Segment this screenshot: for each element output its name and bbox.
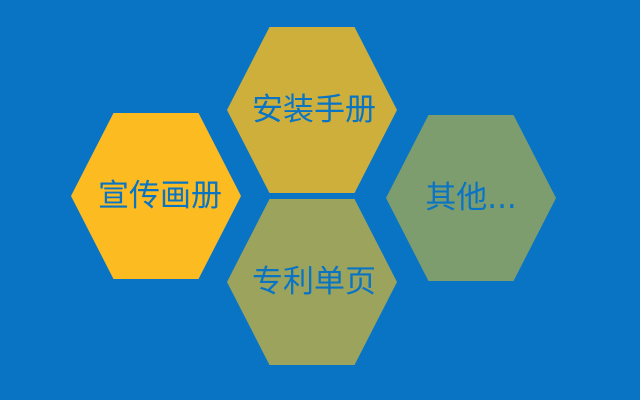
hexagon-manual-label: 安装手册: [252, 95, 376, 126]
hexagon-brochure-label: 宣传画册: [98, 181, 222, 212]
hexagon-brochure[interactable]: 宣传画册: [71, 113, 241, 279]
hexagon-other-label: 其他...: [425, 183, 517, 214]
hexagon-patent[interactable]: 专利单页: [227, 199, 397, 365]
hexagon-manual[interactable]: 安装手册: [227, 27, 397, 193]
diagram-canvas: 宣传画册 安装手册 专利单页 其他...: [0, 0, 640, 400]
hexagon-other[interactable]: 其他...: [386, 115, 556, 281]
hexagon-patent-label: 专利单页: [252, 267, 376, 298]
